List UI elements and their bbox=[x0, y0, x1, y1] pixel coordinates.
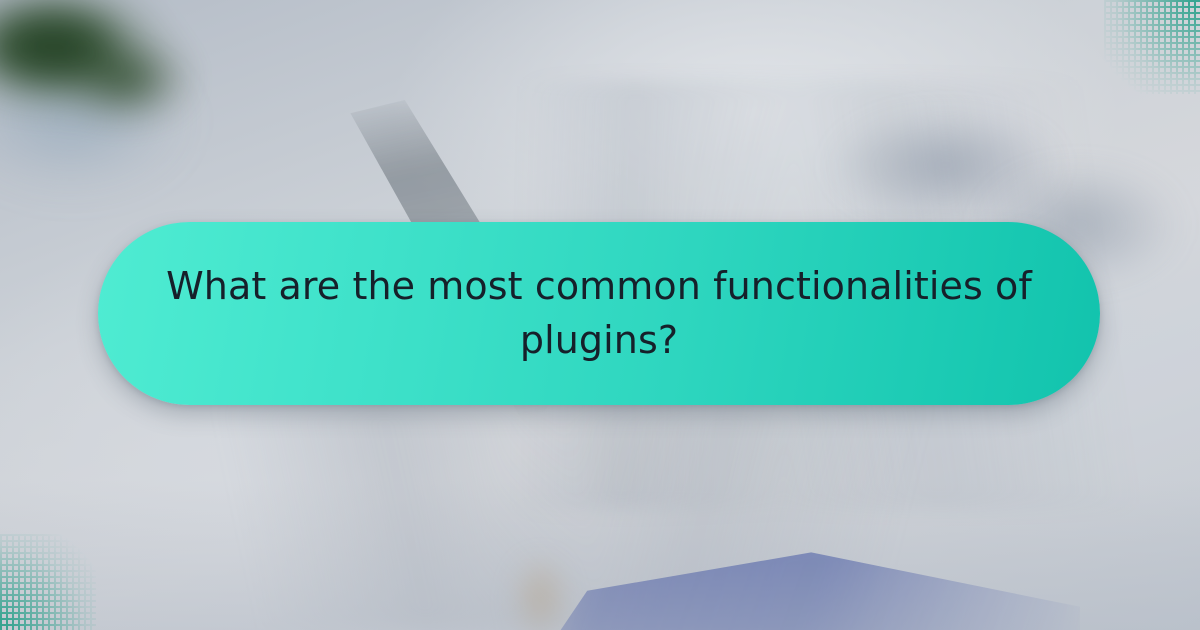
question-banner-card: What are the most common functionalities… bbox=[0, 0, 1200, 630]
halftone-dots-top-right-icon bbox=[1104, 0, 1200, 94]
question-text: What are the most common functionalities… bbox=[164, 260, 1034, 368]
background-blue-object-blur bbox=[520, 530, 1080, 630]
question-pill: What are the most common functionalities… bbox=[98, 222, 1100, 405]
background-tan-object-blur bbox=[480, 545, 590, 630]
halftone-dots-bottom-left-icon bbox=[0, 534, 96, 630]
background-bottom-fade bbox=[0, 480, 1200, 630]
background-soft-blob-a bbox=[830, 110, 1060, 220]
background-grid-lines bbox=[180, 400, 960, 630]
background-haze-left bbox=[0, 20, 240, 220]
background-foliage-blur bbox=[0, 0, 190, 132]
